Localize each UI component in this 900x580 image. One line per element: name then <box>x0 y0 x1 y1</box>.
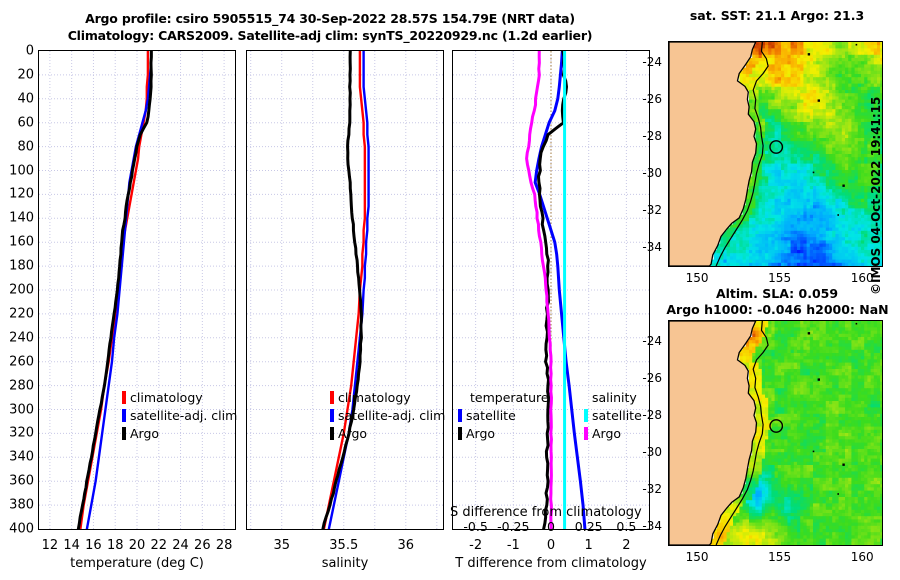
map-y-tick-label: -24 <box>630 334 662 348</box>
legend-header-temperature: temperature <box>470 390 549 405</box>
difference-bottom-axis-label: T difference from climatology <box>452 556 650 571</box>
x-tick-label-top: -0.25 <box>497 519 529 534</box>
sla-map-title-line-1: Altim. SLA: 0.059 <box>662 286 892 301</box>
sla-map[interactable] <box>668 320 883 546</box>
x-tick-label: 18 <box>107 538 124 553</box>
salinity-plot-area <box>247 51 443 529</box>
x-tick-label: 22 <box>150 538 167 553</box>
x-tick-label: 0 <box>547 538 555 553</box>
y-tick-label: 120 <box>0 187 34 202</box>
legend-label: Argo <box>592 426 621 441</box>
salinity-profile-panel[interactable] <box>246 50 444 530</box>
x-tick-label: -2 <box>469 538 482 553</box>
map-y-tick-label: -34 <box>630 519 662 533</box>
y-tick-label: 300 <box>0 402 34 417</box>
map-x-tick-label: 155 <box>768 271 791 285</box>
y-tick-label: 400 <box>0 522 34 537</box>
y-tick-label: 340 <box>0 450 34 465</box>
page-title: Argo profile: csiro 5905515_74 30-Sep-20… <box>0 10 660 44</box>
legend-header-salinity: salinity <box>592 390 637 405</box>
legend-label: climatology <box>338 390 411 405</box>
legend-label: satellite-adj. clim <box>338 408 445 423</box>
y-tick-label: 360 <box>0 474 34 489</box>
y-tick-label: 40 <box>0 91 34 106</box>
legend-swatch-argo <box>330 427 334 440</box>
y-tick-label: 200 <box>0 283 34 298</box>
y-tick-label: 220 <box>0 306 34 321</box>
y-tick-label: 240 <box>0 330 34 345</box>
map-x-tick-label: 155 <box>768 550 791 564</box>
difference-plot-area <box>453 51 649 529</box>
x-tick-label: 35.5 <box>329 538 358 553</box>
y-tick-label: 20 <box>0 67 34 82</box>
map-y-tick-label: -32 <box>630 203 662 217</box>
map-y-tick-label: -30 <box>630 166 662 180</box>
legend-swatch-climatology <box>330 391 334 404</box>
map-y-tick-label: -32 <box>630 482 662 496</box>
y-tick-label: 100 <box>0 163 34 178</box>
legend-swatch-satellite <box>122 409 126 422</box>
salinity-x-axis-label: salinity <box>246 556 444 571</box>
y-tick-label: 80 <box>0 139 34 154</box>
map-x-tick-label: 160 <box>851 550 874 564</box>
x-tick-label: 24 <box>172 538 189 553</box>
legend-swatch-satellite <box>330 409 334 422</box>
legend-swatch-climatology <box>122 391 126 404</box>
map-y-tick-label: -28 <box>630 129 662 143</box>
map-y-tick-label: -30 <box>630 445 662 459</box>
x-tick-label-top: 0.25 <box>575 519 603 534</box>
x-tick-label: 12 <box>42 538 59 553</box>
x-tick-label: 2 <box>622 538 630 553</box>
sst-map-title: sat. SST: 21.1 Argo: 21.3 <box>662 8 892 23</box>
x-tick-label: 14 <box>63 538 80 553</box>
sst-map-canvas <box>669 42 882 266</box>
map-y-tick-label: -26 <box>630 371 662 385</box>
y-tick-label: 380 <box>0 498 34 513</box>
x-tick-label: 1 <box>585 538 593 553</box>
legend-swatch-temp-satellite <box>458 409 462 422</box>
y-tick-label: 0 <box>0 44 34 59</box>
legend-label: climatology <box>130 390 203 405</box>
map-y-tick-label: -28 <box>630 408 662 422</box>
y-tick-label: 160 <box>0 235 34 250</box>
legend-swatch-argo <box>122 427 126 440</box>
x-tick-label: -1 <box>507 538 520 553</box>
sla-map-title-line-2: Argo h1000: -0.046 h2000: NaN <box>655 302 900 317</box>
legend-swatch-sal-argo <box>584 427 588 440</box>
y-tick-label: 280 <box>0 378 34 393</box>
temperature-profile-panel[interactable] <box>38 50 236 530</box>
legend-label: satellite <box>466 408 516 423</box>
map-y-tick-label: -26 <box>630 92 662 106</box>
temperature-plot-area <box>39 51 235 529</box>
map-x-tick-label: 150 <box>686 550 709 564</box>
legend-swatch-sal-satellite <box>584 409 588 422</box>
y-tick-label: 180 <box>0 259 34 274</box>
x-tick-label: 35 <box>273 538 290 553</box>
legend-swatch-temp-argo <box>458 427 462 440</box>
x-tick-label: 28 <box>216 538 233 553</box>
copyright-label: ©IMOS 04-Oct-2022 19:41:15 <box>869 55 883 295</box>
y-tick-label: 260 <box>0 354 34 369</box>
x-tick-label-top: -0.5 <box>463 519 487 534</box>
x-tick-label: 36 <box>398 538 415 553</box>
temperature-x-axis-label: temperature (deg C) <box>38 556 236 571</box>
legend-label: Argo <box>338 426 367 441</box>
y-tick-label: 60 <box>0 115 34 130</box>
difference-profile-panel[interactable] <box>452 50 650 530</box>
x-tick-label: 26 <box>194 538 211 553</box>
x-tick-label: 20 <box>129 538 146 553</box>
sst-map[interactable] <box>668 41 883 267</box>
legend-label: satellite-adj. clim <box>130 408 237 423</box>
x-tick-label: 16 <box>85 538 102 553</box>
legend-label: Argo <box>130 426 159 441</box>
map-y-tick-label: -24 <box>630 55 662 69</box>
map-y-tick-label: -34 <box>630 240 662 254</box>
x-tick-label-top: 0 <box>547 519 555 534</box>
sla-map-canvas <box>669 321 882 545</box>
map-x-tick-label: 150 <box>686 271 709 285</box>
legend-label: Argo <box>466 426 495 441</box>
y-tick-label: 140 <box>0 211 34 226</box>
difference-top-axis-label: S difference from climatology <box>450 505 652 520</box>
title-line-2: Climatology: CARS2009. Satellite-adj cli… <box>0 27 660 44</box>
title-line-1: Argo profile: csiro 5905515_74 30-Sep-20… <box>0 10 660 27</box>
y-tick-label: 320 <box>0 426 34 441</box>
